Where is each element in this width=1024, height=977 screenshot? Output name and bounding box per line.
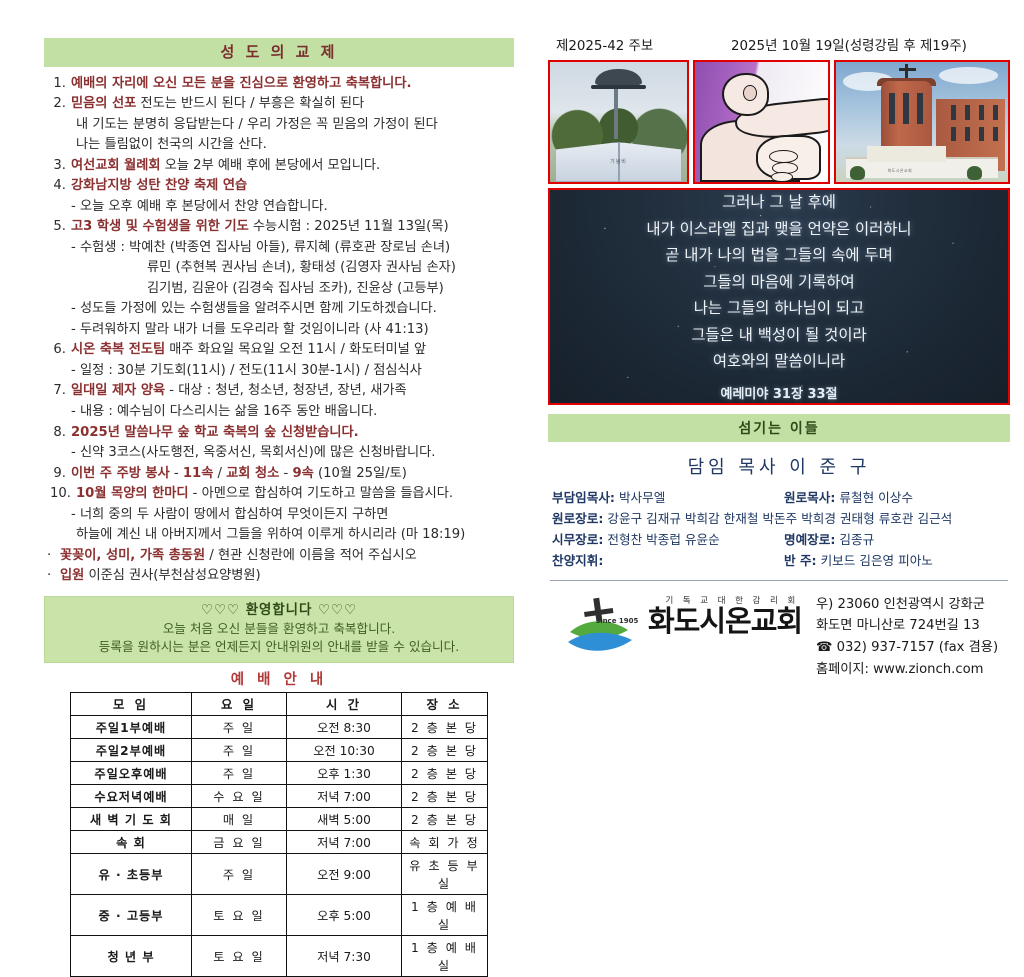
announcement-text: 교회 청소 — [226, 466, 279, 481]
announcement-number: 6. — [44, 340, 71, 361]
welcome-box: ♡♡♡ 환영합니다 ♡♡♡ 오늘 처음 오신 분들을 환영하고 축복합니다. 등… — [44, 596, 514, 663]
announcement-text: - 수험생 : 박예찬 (박종연 집사님 아들), 류지혜 (류호관 장로님 손… — [71, 240, 450, 255]
announcement-text: - 대상 : 청년, 청소년, 청장년, 장년, 새가족 — [165, 383, 407, 398]
table-cell: 저녁 7:00 — [287, 784, 402, 807]
announcement-subline: - 너희 중의 두 사람이 땅에서 합심하여 무엇이든지 구하면 — [44, 505, 514, 526]
table-cell: 주일오후예배 — [71, 761, 192, 784]
senior-pastor: 담임 목사 이 준 구 — [548, 453, 1010, 479]
bullet-dot-icon: · — [47, 566, 60, 587]
table-cell: 2 층 본 당 — [402, 784, 488, 807]
welcome-line-1: 오늘 처음 오신 분들을 환영하고 축복합니다. — [45, 620, 513, 638]
welcome-line-2: 등록을 원하시는 분은 언제든지 안내위원의 안내를 받을 수 있습니다. — [45, 638, 513, 656]
announcement-text: 수능시험 : 2025년 11월 13일(목) — [249, 219, 449, 234]
scripture-line: 그들의 마음에 기록하여 — [646, 269, 911, 295]
announcement-text: - 아멘으로 합심하여 기도하고 말씀을 들읍시다. — [188, 486, 453, 501]
announcement-text: 믿음의 선포 — [71, 96, 136, 111]
table-cell: 속 회 — [71, 830, 192, 853]
phone-line: ☎ 032) 937-7157 (fax 겸용) — [816, 637, 1010, 659]
table-cell: 1 층 예 배 실 — [402, 935, 488, 976]
servant-entry: 원로목사: 류철현 이상수 — [784, 487, 1010, 508]
announcement-item: 10. 10월 목양의 한마디 - 아멘으로 합심하여 기도하고 말씀을 들읍시… — [44, 484, 514, 505]
announcement-item: 9. 이번 주 주방 봉사 - 11속 / 교회 청소 - 9속 (10월 25… — [44, 464, 514, 485]
announcement-subline: - 두려워하지 말라 내가 너를 도우리라 할 것임이니라 (사 41:13) — [44, 320, 514, 341]
table-cell: 금 요 일 — [192, 830, 287, 853]
table-cell: 수 요 일 — [192, 784, 287, 807]
announcement-item: 4. 강화남지방 성탄 찬양 축제 연습 — [44, 176, 514, 197]
table-cell: 주 일 — [192, 761, 287, 784]
photo-strip: 기념비 — [548, 60, 1010, 184]
table-row: 청 년 부토 요 일저녁 7:301 층 예 배 실 — [71, 935, 488, 976]
bulletin-header: 제2025-42 주보 2025년 10월 19일(성령강림 후 제19주) — [548, 34, 1010, 60]
table-cell: 새 벽 기 도 회 — [71, 807, 192, 830]
table-col-header-2: 시 간 — [287, 692, 402, 715]
servant-entry: 부담임목사: 박사무엘 — [552, 487, 784, 508]
scripture-reference: 예레미야 31장 33절 — [721, 383, 838, 402]
left-column: 성 도 의 교 제 1. 예배의 자리에 오신 모든 분을 진심으로 환영하고 … — [44, 38, 514, 977]
table-cell: 저녁 7:00 — [287, 830, 402, 853]
table-cell: 1 층 예 배 실 — [402, 894, 488, 935]
table-cell: 오전 10:30 — [287, 738, 402, 761]
table-cell: 수요저녁예배 — [71, 784, 192, 807]
servants-header: 섬기는 이들 — [548, 414, 1010, 442]
table-cell: 속 회 가 정 — [402, 830, 488, 853]
divider — [550, 580, 1008, 581]
hearts-right-icon: ♡♡♡ — [318, 603, 357, 618]
bullet-text: 이준심 권사(부천삼성요양병원) — [84, 568, 260, 583]
table-cell: 중 · 고등부 — [71, 894, 192, 935]
servant-row: 찬양지휘: 반 주: 키보드 김은영 피아노 — [552, 550, 1010, 571]
announcement-subline: - 일정 : 30분 기도회(11시) / 전도(11시 30분-1시) / 점… — [44, 361, 514, 382]
table-cell: 2 층 본 당 — [402, 738, 488, 761]
bulletin-date: 2025년 10월 19일(성령강림 후 제19주) — [731, 34, 1008, 54]
table-row: 수요저녁예배수 요 일저녁 7:002 층 본 당 — [71, 784, 488, 807]
bullet-dot-icon: · — [47, 546, 60, 567]
schedule-title: 예 배 안 내 — [44, 668, 514, 689]
announcement-number: 5. — [44, 217, 71, 238]
table-cell: 오후 5:00 — [287, 894, 402, 935]
table-cell: 새벽 5:00 — [287, 807, 402, 830]
announcement-text: 김기범, 김윤아 (김경숙 집사님 조카), 진윤상 (고등부) — [147, 281, 444, 296]
announcement-subline: 하늘에 계신 내 아버지께서 그들을 위하여 이루게 하시리라 (마 18:19… — [44, 525, 514, 546]
table-cell: 2 층 본 당 — [402, 807, 488, 830]
announcement-text: 여선교회 월례회 — [71, 158, 161, 173]
church-logo-text: 기 독 교 대 한 감 리 회 화도시온교회 — [648, 594, 816, 637]
photo-bell-and-stone-book: 기념비 — [548, 60, 689, 184]
hearts-left-icon: ♡♡♡ — [201, 603, 240, 618]
church-address: 우) 23060 인천광역시 강화군 화도면 마니산로 724번길 13 ☎ 0… — [816, 592, 1010, 681]
announcement-text: 11속 — [183, 466, 213, 481]
announcement-text: 일대일 제자 양육 — [71, 383, 165, 398]
scripture-line: 그러나 그 날 후에 — [646, 189, 911, 215]
announcement-text: 이번 주 주방 봉사 — [71, 466, 170, 481]
announcement-number: 2. — [44, 94, 71, 115]
announcement-number: 1. — [44, 74, 71, 95]
announcement-text: 9속 — [292, 466, 313, 481]
table-row: 중 · 고등부토 요 일오후 5:001 층 예 배 실 — [71, 894, 488, 935]
announcement-item: 7. 일대일 제자 양육 - 대상 : 청년, 청소년, 청장년, 장년, 새가… — [44, 381, 514, 402]
fellowship-header: 성 도 의 교 제 — [44, 38, 514, 67]
footer: since 1905 기 독 교 대 한 감 리 회 화도시온교회 우) 230… — [548, 592, 1010, 681]
table-row: 유 · 초등부주 일오전 9:00유 초 등 부 실 — [71, 853, 488, 894]
church-name: 화도시온교회 — [648, 606, 816, 637]
table-col-header-0: 모 임 — [71, 692, 192, 715]
announcement-text: - 성도들 가정에 있는 수험생들을 알려주시면 함께 기도하겠습니다. — [71, 301, 437, 316]
announcement-number: 10. — [44, 484, 76, 505]
announcement-text: - 두려워하지 말라 내가 너를 도우리라 할 것임이니라 (사 41:13) — [71, 322, 429, 337]
servant-entry: 시무장로: 전형찬 박종럽 유윤순 — [552, 529, 784, 550]
bulletin-page: 성 도 의 교 제 1. 예배의 자리에 오신 모든 분을 진심으로 환영하고 … — [0, 0, 1024, 724]
announcement-item: 8. 2025년 말씀나무 숲 학교 축복의 숲 신청받습니다. — [44, 423, 514, 444]
announcement-text: 나는 틀림없이 천국의 시간을 산다. — [76, 137, 267, 152]
servant-row: 시무장로: 전형찬 박종럽 유윤순 명예장로: 김종규 — [552, 529, 1010, 550]
announcement-text: 하늘에 계신 내 아버지께서 그들을 위하여 이루게 하시리라 (마 18:19… — [76, 527, 465, 542]
announcement-number: 8. — [44, 423, 71, 444]
announcement-number: 9. — [44, 464, 71, 485]
table-col-header-1: 요 일 — [192, 692, 287, 715]
table-cell: 오전 8:30 — [287, 715, 402, 738]
website-line[interactable]: 홈페이지: www.zionch.com — [816, 659, 1010, 681]
svg-text:since 1905: since 1905 — [596, 617, 638, 625]
table-row: 주일2부예배주 일오전 10:302 층 본 당 — [71, 738, 488, 761]
church-logo: since 1905 기 독 교 대 한 감 리 회 화도시온교회 — [548, 592, 816, 666]
announcement-subline: 나는 틀림없이 천국의 시간을 산다. — [44, 135, 514, 156]
table-cell: 주일1부예배 — [71, 715, 192, 738]
table-row: 속 회금 요 일저녁 7:00속 회 가 정 — [71, 830, 488, 853]
announcement-subline: 내 기도는 분명히 응답받는다 / 우리 가정은 꼭 믿음의 가정이 된다 — [44, 115, 514, 136]
announcement-text: 시온 축복 전도팀 — [71, 342, 165, 357]
announcement-text: 전도는 반드시 된다 / 부흥은 확실히 된다 — [136, 96, 364, 111]
announcement-text: 매주 화요일 목요일 오전 11시 / 화도터미널 앞 — [165, 342, 426, 357]
announcement-text: - 내용 : 예수님이 다스리시는 삶을 16주 동안 배웁니다. — [71, 404, 377, 419]
scripture-line: 내가 이스라엘 집과 맺을 언약은 이러하니 — [646, 216, 911, 242]
announcement-item: 5. 고3 학생 및 수험생을 위한 기도 수능시험 : 2025년 11월 1… — [44, 217, 514, 238]
scripture-panel: 그러나 그 날 후에내가 이스라엘 집과 맺을 언약은 이러하니곧 내가 나의 … — [548, 188, 1010, 405]
announcement-subline: - 오늘 오후 예배 후 본당에서 찬양 연습합니다. — [44, 197, 514, 218]
bullet-item: · 입원 이준심 권사(부천삼성요양병원) — [44, 566, 514, 587]
announcement-text: - 신약 3코스(사도행전, 옥중서신, 목회서신)에 많은 신청바랍니다. — [71, 445, 435, 460]
table-cell: 주 일 — [192, 853, 287, 894]
table-cell: 주 일 — [192, 738, 287, 761]
announcement-text: 강화남지방 성탄 찬양 축제 연습 — [71, 178, 247, 193]
cross-and-waves-logo-icon: since 1905 — [566, 596, 644, 656]
bullet-notice-list: · 꽃꽂이, 성미, 가족 총동원 / 현관 신청란에 이름을 적어 주십시오 … — [44, 546, 514, 587]
announcement-text: 2025년 말씀나무 숲 학교 축복의 숲 신청받습니다. — [71, 425, 359, 440]
announcement-text: 오늘 2부 예배 후에 본당에서 모입니다. — [161, 158, 381, 173]
table-cell: 저녁 7:30 — [287, 935, 402, 976]
announcement-number: 7. — [44, 381, 71, 402]
announcement-text: 예배의 자리에 오신 모든 분을 진심으로 환영하고 축복합니다. — [71, 76, 411, 91]
scripture-line: 여호와의 말씀이니라 — [646, 348, 911, 374]
table-row: 주일1부예배주 일오전 8:302 층 본 당 — [71, 715, 488, 738]
servant-entry: 명예장로: 김종규 — [784, 529, 1010, 550]
announcement-text: 10월 목양의 한마디 — [76, 486, 188, 501]
announcement-text: - 오늘 오후 예배 후 본당에서 찬양 연습합니다. — [71, 199, 328, 214]
address-line-1: 우) 23060 인천광역시 강화군 — [816, 594, 1010, 616]
table-row: 새 벽 기 도 회매 일새벽 5:002 층 본 당 — [71, 807, 488, 830]
servant-entry: 찬양지휘: — [552, 550, 784, 571]
bullet-text: 입원 — [60, 568, 84, 583]
announcement-text: - — [170, 466, 183, 481]
announcement-subline: - 수험생 : 박예찬 (박종연 집사님 아들), 류지혜 (류호관 장로님 손… — [44, 238, 514, 259]
table-cell: 유 · 초등부 — [71, 853, 192, 894]
table-cell: 오후 1:30 — [287, 761, 402, 784]
bullet-text: 꽃꽂이, 성미, 가족 총동원 — [60, 548, 205, 563]
announcement-text: - 일정 : 30분 기도회(11시) / 전도(11시 30분-1시) / 점… — [71, 363, 422, 378]
announcement-text: - 너희 중의 두 사람이 땅에서 합심하여 무엇이든지 구하면 — [71, 507, 388, 522]
scripture-lines: 그러나 그 날 후에내가 이스라엘 집과 맺을 언약은 이러하니곧 내가 나의 … — [646, 189, 911, 374]
announcement-number: 4. — [44, 176, 71, 197]
bulletin-number: 제2025-42 주보 — [556, 34, 731, 54]
table-cell: 토 요 일 — [192, 935, 287, 976]
welcome-title: 환영합니다 — [246, 603, 313, 618]
bullet-text: / 현관 신청란에 이름을 적어 주십시오 — [205, 548, 417, 563]
announcement-text: 류민 (추현복 권사님 손녀), 황태성 (김영자 권사님 손자) — [147, 260, 456, 275]
table-cell: 주 일 — [192, 715, 287, 738]
scripture-line: 그들은 내 백성이 될 것이라 — [646, 322, 911, 348]
servants-list: 부담임목사: 박사무엘 원로목사: 류철현 이상수 원로장로: 강윤구 김재규 … — [548, 487, 1010, 572]
announcement-subline: 김기범, 김윤아 (김경숙 집사님 조카), 진윤상 (고등부) — [44, 279, 514, 300]
welcome-title-line: ♡♡♡ 환영합니다 ♡♡♡ — [45, 601, 513, 620]
announcement-item: 3. 여선교회 월례회 오늘 2부 예배 후에 본당에서 모입니다. — [44, 156, 514, 177]
table-cell: 청 년 부 — [71, 935, 192, 976]
photo-laying-on-of-hands-illustration — [693, 60, 830, 184]
servant-row: 원로장로: 강윤구 김재규 박희감 한재철 박돈주 박희경 권태형 류호관 김근… — [552, 508, 1010, 529]
table-cell: 주일2부예배 — [71, 738, 192, 761]
table-cell: 2 층 본 당 — [402, 761, 488, 784]
right-column: 제2025-42 주보 2025년 10월 19일(성령강림 후 제19주) 기… — [548, 34, 1010, 680]
announcement-text: - — [279, 466, 292, 481]
servant-row: 부담임목사: 박사무엘 원로목사: 류철현 이상수 — [552, 487, 1010, 508]
table-header-row: 모 임요 일시 간장 소 — [71, 692, 488, 715]
announcement-list: 1. 예배의 자리에 오신 모든 분을 진심으로 환영하고 축복합니다. 2. … — [44, 74, 514, 546]
table-cell: 유 초 등 부 실 — [402, 853, 488, 894]
announcement-subline: 류민 (추현복 권사님 손녀), 황태성 (김영자 권사님 손자) — [44, 258, 514, 279]
table-col-header-3: 장 소 — [402, 692, 488, 715]
photo-church-building: 화도시온교회 — [834, 60, 1010, 184]
worship-schedule-table: 모 임요 일시 간장 소 주일1부예배주 일오전 8:302 층 본 당주일2부… — [70, 692, 488, 977]
announcement-text: 내 기도는 분명히 응답받는다 / 우리 가정은 꼭 믿음의 가정이 된다 — [76, 117, 438, 132]
announcement-number: 3. — [44, 156, 71, 177]
announcement-text: / — [213, 466, 226, 481]
table-cell: 오전 9:00 — [287, 853, 402, 894]
announcement-subline: - 성도들 가정에 있는 수험생들을 알려주시면 함께 기도하겠습니다. — [44, 299, 514, 320]
announcement-item: 6. 시온 축복 전도팀 매주 화요일 목요일 오전 11시 / 화도터미널 앞 — [44, 340, 514, 361]
announcement-text: (10월 25일/토) — [314, 466, 407, 481]
address-line-2: 화도면 마니산로 724번길 13 — [816, 615, 1010, 637]
announcement-item: 1. 예배의 자리에 오신 모든 분을 진심으로 환영하고 축복합니다. — [44, 74, 514, 95]
announcement-subline: - 신약 3코스(사도행전, 옥중서신, 목회서신)에 많은 신청바랍니다. — [44, 443, 514, 464]
announcement-text: 고3 학생 및 수험생을 위한 기도 — [71, 219, 249, 234]
table-cell: 2 층 본 당 — [402, 715, 488, 738]
table-cell: 매 일 — [192, 807, 287, 830]
servant-entry: 반 주: 키보드 김은영 피아노 — [784, 550, 1010, 571]
bullet-item: · 꽃꽂이, 성미, 가족 총동원 / 현관 신청란에 이름을 적어 주십시오 — [44, 546, 514, 567]
table-cell: 토 요 일 — [192, 894, 287, 935]
scripture-line: 나는 그들의 하나님이 되고 — [646, 295, 911, 321]
announcement-subline: - 내용 : 예수님이 다스리시는 삶을 16주 동안 배웁니다. — [44, 402, 514, 423]
table-row: 주일오후예배주 일오후 1:302 층 본 당 — [71, 761, 488, 784]
announcement-item: 2. 믿음의 선포 전도는 반드시 된다 / 부흥은 확실히 된다 — [44, 94, 514, 115]
scripture-line: 곧 내가 나의 법을 그들의 속에 두며 — [646, 242, 911, 268]
